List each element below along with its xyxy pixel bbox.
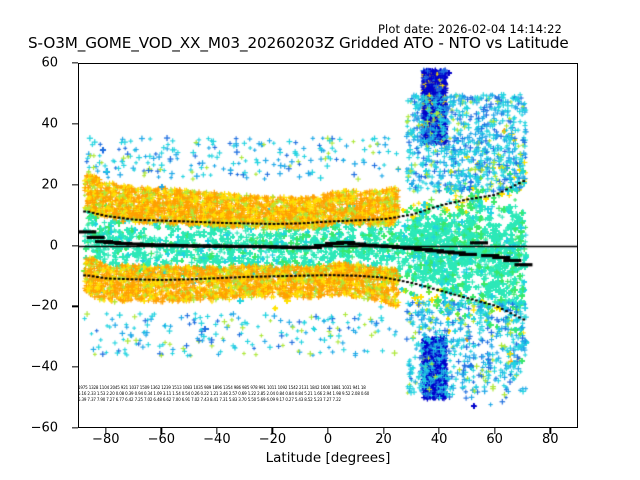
x-tick-mark [327, 428, 328, 434]
y-tick-label: 20 [0, 177, 58, 192]
y-tick-mark [72, 427, 78, 428]
y-tick-mark [72, 367, 78, 368]
x-axis-label: Latitude [degrees] [78, 450, 578, 466]
figure: Plot date: 2026-02-04 14:14:22 S-O3M_GOM… [0, 0, 640, 480]
x-tick-mark [105, 428, 106, 434]
x-tick-mark [494, 428, 495, 434]
x-tick-label: −40 [187, 432, 247, 447]
x-tick-mark [383, 428, 384, 434]
figure-title: S-O3M_GOME_VOD_XX_M03_20260203Z Gridded … [28, 34, 569, 52]
y-tick-mark [72, 62, 78, 63]
x-tick-mark [216, 428, 217, 434]
y-tick-label: 40 [0, 116, 58, 131]
x-tick-label: −20 [242, 432, 302, 447]
y-tick-label: −60 [0, 421, 58, 436]
x-tick-mark [272, 428, 273, 434]
y-tick-label: 0 [0, 238, 58, 253]
x-tick-label: 0 [298, 432, 358, 447]
y-tick-mark [72, 123, 78, 124]
y-tick-label: −20 [0, 299, 58, 314]
y-tick-label: −40 [0, 360, 58, 375]
x-tick-label: −80 [76, 432, 136, 447]
x-tick-label: 20 [354, 432, 414, 447]
y-tick-label: 60 [0, 56, 58, 71]
y-tick-mark [72, 306, 78, 307]
scatter-canvas [79, 64, 578, 428]
x-tick-label: 80 [520, 432, 580, 447]
x-tick-label: 60 [465, 432, 525, 447]
x-tick-label: 40 [409, 432, 469, 447]
stats-row-stddev: 5.39 7.37 7.90 7.27 6.77 6.42 7.25 7.02 … [78, 397, 578, 403]
y-tick-mark [72, 184, 78, 185]
x-tick-mark [161, 428, 162, 434]
y-tick-mark [72, 245, 78, 246]
x-tick-label: −60 [131, 432, 191, 447]
x-tick-mark [438, 428, 439, 434]
x-tick-mark [550, 428, 551, 434]
plot-axes [78, 63, 578, 428]
